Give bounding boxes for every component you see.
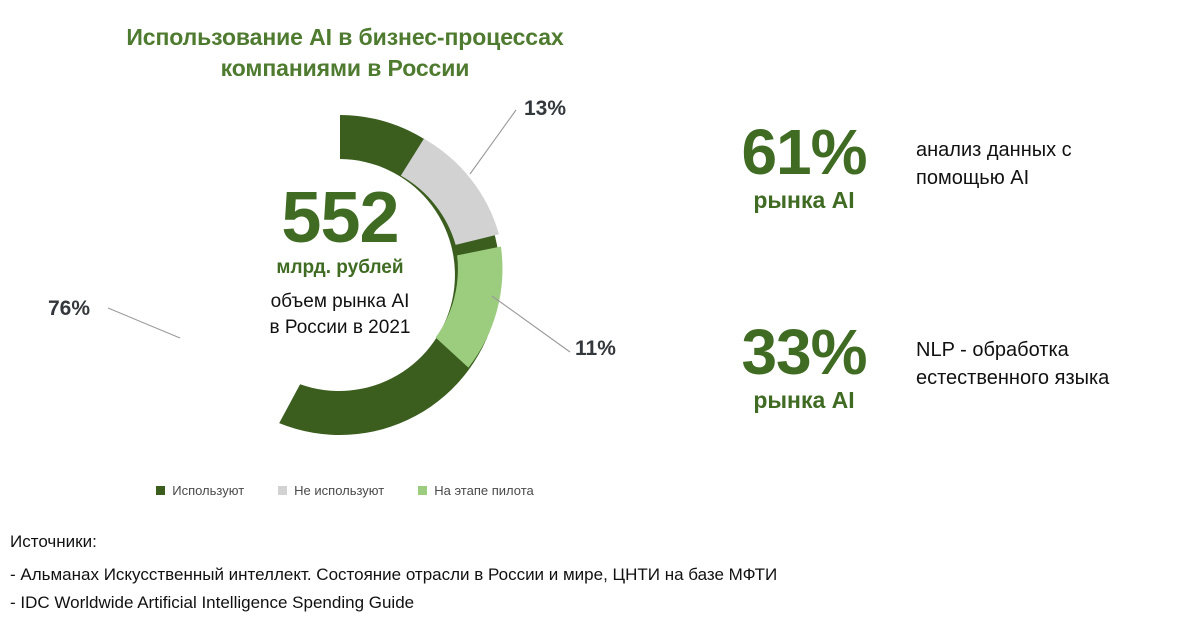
legend-swatch-icon — [278, 486, 287, 495]
legend-item-not-used[interactable]: Не используют — [278, 483, 384, 498]
stat-value: 61% — [706, 122, 902, 183]
legend-item-label: Не используют — [294, 483, 384, 498]
stat-description-line-2: помощью AI — [916, 167, 1029, 189]
legend-item-pilot[interactable]: На этапе пилота — [418, 483, 534, 498]
sources-heading: Источники: — [10, 532, 1140, 552]
stat-description: анализ данных с помощью AI — [916, 136, 1186, 193]
chart-title: Использование AI в бизнес-процессах комп… — [60, 22, 630, 83]
callout-percent-not-used: 13% — [524, 97, 566, 121]
donut-graphic — [140, 75, 540, 475]
donut-segment-not-used[interactable] — [401, 139, 499, 245]
stat-value: 33% — [706, 322, 902, 383]
stat-subtitle: рынка AI — [706, 187, 902, 214]
stat-description-line-1: NLP - обработка — [916, 339, 1069, 361]
stat-figure: 33% рынка AI — [706, 322, 902, 414]
chart-title-line-1: Использование AI в бизнес-процессах — [126, 24, 563, 50]
stat-block-nlp: 33% рынка AI NLP - обработка естественно… — [706, 322, 1186, 414]
donut-chart-panel: Использование AI в бизнес-процессах комп… — [0, 0, 690, 520]
legend-swatch-icon — [418, 486, 427, 495]
source-item: - Альманах Искусственный интеллект. Сост… — [10, 561, 1140, 589]
legend-item-used[interactable]: Используют — [156, 483, 244, 498]
stat-figure: 61% рынка AI — [706, 122, 902, 214]
chart-legend: Используют Не используют На этапе пилота — [0, 483, 690, 498]
stat-description-line-2: естественного языка — [916, 367, 1109, 389]
stat-description-line-1: анализ данных с — [916, 139, 1072, 161]
stat-block-data-analysis: 61% рынка AI анализ данных с помощью AI — [706, 122, 1186, 214]
stat-subtitle: рынка AI — [706, 387, 902, 414]
donut-svg — [140, 75, 540, 475]
legend-item-label: Используют — [172, 483, 244, 498]
stat-description: NLP - обработка естественного языка — [916, 336, 1186, 393]
source-item: - IDC Worldwide Artificial Intelligence … — [10, 589, 1140, 617]
callout-percent-used: 76% — [48, 297, 90, 321]
legend-swatch-icon — [156, 486, 165, 495]
callout-percent-pilot: 11% — [575, 337, 616, 361]
legend-item-label: На этапе пилота — [434, 483, 534, 498]
sources-section: Источники: - Альманах Искусственный инте… — [10, 532, 1140, 616]
